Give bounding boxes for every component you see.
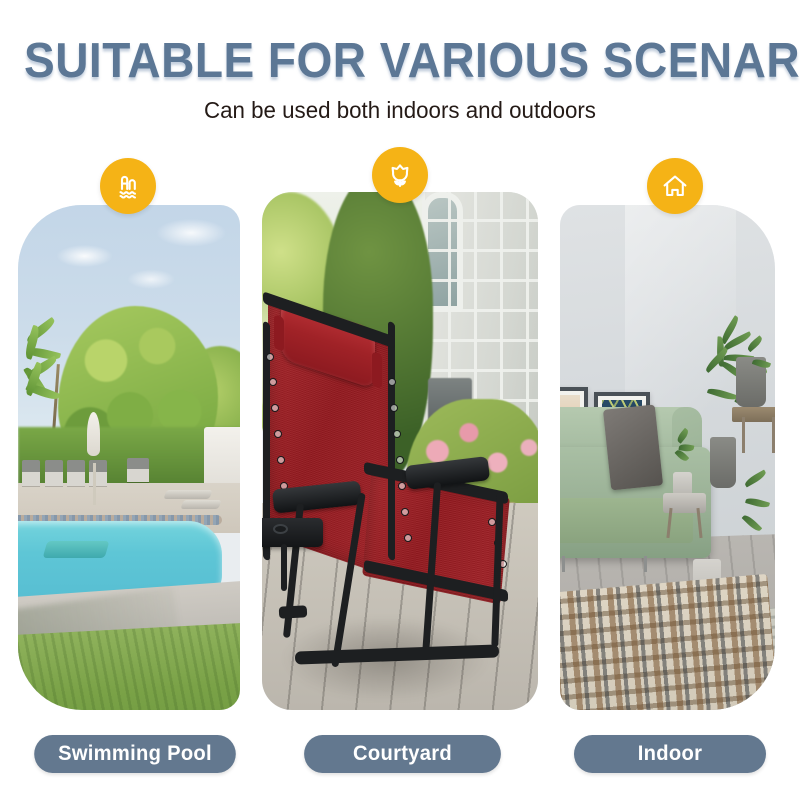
badge-courtyard [372, 147, 428, 203]
lawn [18, 623, 240, 710]
area-rug [560, 574, 775, 710]
patio-chair [127, 458, 149, 482]
pool-lounger [163, 490, 212, 499]
patio-chair [45, 460, 63, 486]
chair-frame-rail-right [388, 320, 395, 561]
caption-label: Swimming Pool [58, 742, 212, 766]
caption-swimming-pool: Swimming Pool [34, 735, 236, 773]
tray-cup-holder [273, 524, 288, 534]
pillow-strap [372, 351, 382, 388]
patio-chair [89, 460, 107, 486]
house-home-icon [659, 170, 691, 202]
zero-gravity-chair [262, 192, 538, 710]
pool-lounger [181, 500, 222, 509]
badge-swimming-pool [100, 158, 156, 214]
chair-base-foot [278, 606, 306, 620]
header: SUITABLE FOR VARIOUS SCENARIOS Can be us… [0, 0, 800, 124]
tray-post [281, 544, 287, 591]
patio-umbrella [87, 412, 100, 456]
page-title: SUITABLE FOR VARIOUS SCENARIOS [24, 0, 776, 88]
promo-banner: SUITABLE FOR VARIOUS SCENARIOS Can be us… [0, 0, 800, 800]
scenario-image-indoor [560, 205, 775, 710]
pool-ladder-waves-icon [112, 170, 144, 202]
caption-indoor: Indoor [574, 735, 766, 773]
chair-base-bar [295, 644, 500, 665]
chair-side-tray [262, 518, 323, 546]
pool-scene [18, 205, 240, 710]
pool-float [42, 541, 109, 558]
caption-label: Indoor [638, 742, 702, 766]
scenario-image-swimming-pool [18, 205, 240, 710]
tulip-flower-icon [384, 159, 416, 191]
patio-chair [67, 460, 85, 486]
caption-label: Courtyard [353, 742, 452, 766]
indoor-scene [560, 205, 775, 710]
caption-courtyard: Courtyard [304, 735, 501, 773]
plant-shelf [732, 407, 775, 422]
scenario-image-courtyard [262, 192, 538, 710]
throw-pillow [603, 405, 663, 491]
patio-chair [22, 460, 40, 486]
courtyard-scene [262, 192, 538, 710]
page-subtitle: Can be used both indoors and outdoors [12, 88, 788, 124]
umbrella-pole [93, 463, 96, 505]
pillow-strap [274, 315, 284, 352]
badge-indoor [647, 158, 703, 214]
